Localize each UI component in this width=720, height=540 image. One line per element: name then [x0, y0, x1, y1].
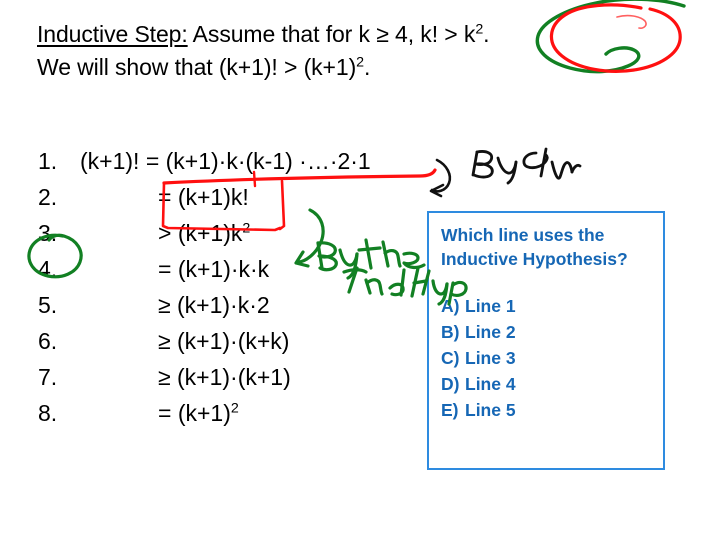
proof-line-expression: (k+1)! = (k+1)·k·(k-1) ·…·2·1: [80, 143, 371, 179]
question-title-line-2: Inductive Hypothesis?: [441, 247, 663, 271]
proof-line-number: 1.: [38, 143, 78, 179]
proof-line-5: 5. ≥ (k+1)·k·2: [0, 287, 430, 323]
slide-canvas: Inductive Step: Assume that for k ≥ 4, k…: [0, 0, 720, 540]
answer-option-a[interactable]: A)Line 1: [441, 293, 663, 319]
proof-line-expression-text: ≥ (k+1)·k·2: [158, 292, 270, 318]
proof-line-expression: = (k+1)k!: [158, 179, 249, 215]
answer-option-key: A): [441, 293, 465, 319]
header-line-2: We will show that (k+1)! > (k+1)2.: [37, 51, 697, 84]
proof-line-number: 5.: [38, 287, 78, 323]
header-line-1-exponent: 2: [475, 21, 483, 37]
proof-line-expression-text: ≥ (k+1)·(k+1): [158, 364, 291, 390]
proof-line-exponent: 2: [242, 220, 250, 236]
proof-line-expression: ≥ (k+1)·k·2: [158, 287, 270, 323]
answer-option-label: Line 4: [465, 374, 516, 394]
proof-line-expression: ≥ (k+1)·(k+k): [158, 323, 289, 359]
question-box: Which line uses the Inductive Hypothesis…: [427, 211, 665, 470]
proof-line-1: 1. (k+1)! = (k+1)·k·(k-1) ·…·2·1: [0, 143, 430, 179]
answer-option-e[interactable]: E)Line 5: [441, 397, 663, 423]
proof-line-expression-text: = (k+1)·k·k: [158, 256, 269, 282]
answer-option-c[interactable]: C)Line 3: [441, 345, 663, 371]
proof-line-list: 1. (k+1)! = (k+1)·k·(k-1) ·…·2·1 2. = (k…: [0, 143, 430, 431]
proof-line-2: 2. = (k+1)k!: [0, 179, 430, 215]
header-line-1: Inductive Step: Assume that for k ≥ 4, k…: [37, 18, 697, 51]
proof-line-7: 7. ≥ (k+1)·(k+1): [0, 359, 430, 395]
answer-option-key: D): [441, 371, 465, 397]
answer-option-label: Line 3: [465, 348, 516, 368]
proof-line-8: 8. = (k+1)2: [0, 395, 430, 431]
header-line-2-text: We will show that (k+1)! > (k+1): [37, 54, 356, 80]
answer-option-d[interactable]: D)Line 4: [441, 371, 663, 397]
proof-line-expression-text: = (k+1): [158, 400, 231, 426]
answer-option-key: E): [441, 397, 465, 423]
handwriting-by-defn-ink: [473, 149, 580, 183]
proof-line-expression: > (k+1)k2: [158, 215, 250, 251]
proof-line-number: 6.: [38, 323, 78, 359]
proof-line-4: 4. = (k+1)·k·k: [0, 251, 430, 287]
proof-line-6: 6. ≥ (k+1)·(k+k): [0, 323, 430, 359]
question-box-content: Which line uses the Inductive Hypothesis…: [429, 213, 663, 423]
header-line-1-rest: Assume that for k ≥ 4, k! > k: [188, 21, 476, 47]
answer-option-label: Line 2: [465, 322, 516, 342]
proof-line-number: 7.: [38, 359, 78, 395]
proof-line-number: 4.: [38, 251, 78, 287]
answer-option-label: Line 5: [465, 400, 516, 420]
proof-line-number: 8.: [38, 395, 78, 431]
question-title-line-1: Which line uses the: [441, 223, 663, 247]
proof-line-expression: = (k+1)·k·k: [158, 251, 269, 287]
proof-line-3: 3. > (k+1)k2: [0, 215, 430, 251]
proof-line-expression-text: > (k+1)k: [158, 220, 242, 246]
proof-line-expression: ≥ (k+1)·(k+1): [158, 359, 291, 395]
answer-option-key: C): [441, 345, 465, 371]
answer-option-label: Line 1: [465, 296, 516, 316]
proof-line-expression-text: (k+1)! = (k+1)·k·(k-1) ·…·2·1: [80, 148, 371, 174]
proof-line-expression: = (k+1)2: [158, 395, 239, 431]
proof-line-number: 2.: [38, 179, 78, 215]
header-block: Inductive Step: Assume that for k ≥ 4, k…: [37, 18, 697, 84]
question-spacer: [441, 271, 663, 293]
black-arrow-line1-head-ink: [431, 185, 443, 196]
header-line-2-exponent: 2: [356, 54, 364, 70]
proof-line-number: 3.: [38, 215, 78, 251]
proof-line-expression-text: = (k+1)k!: [158, 184, 249, 210]
header-line-2-tail: .: [364, 54, 370, 80]
proof-line-expression-text: ≥ (k+1)·(k+k): [158, 328, 289, 354]
answer-option-key: B): [441, 319, 465, 345]
answer-option-b[interactable]: B)Line 2: [441, 319, 663, 345]
header-line-1-tail: .: [483, 21, 489, 47]
inductive-step-label: Inductive Step:: [37, 21, 188, 47]
proof-line-exponent: 2: [231, 400, 239, 416]
black-arrow-line1-ink: [432, 160, 450, 191]
